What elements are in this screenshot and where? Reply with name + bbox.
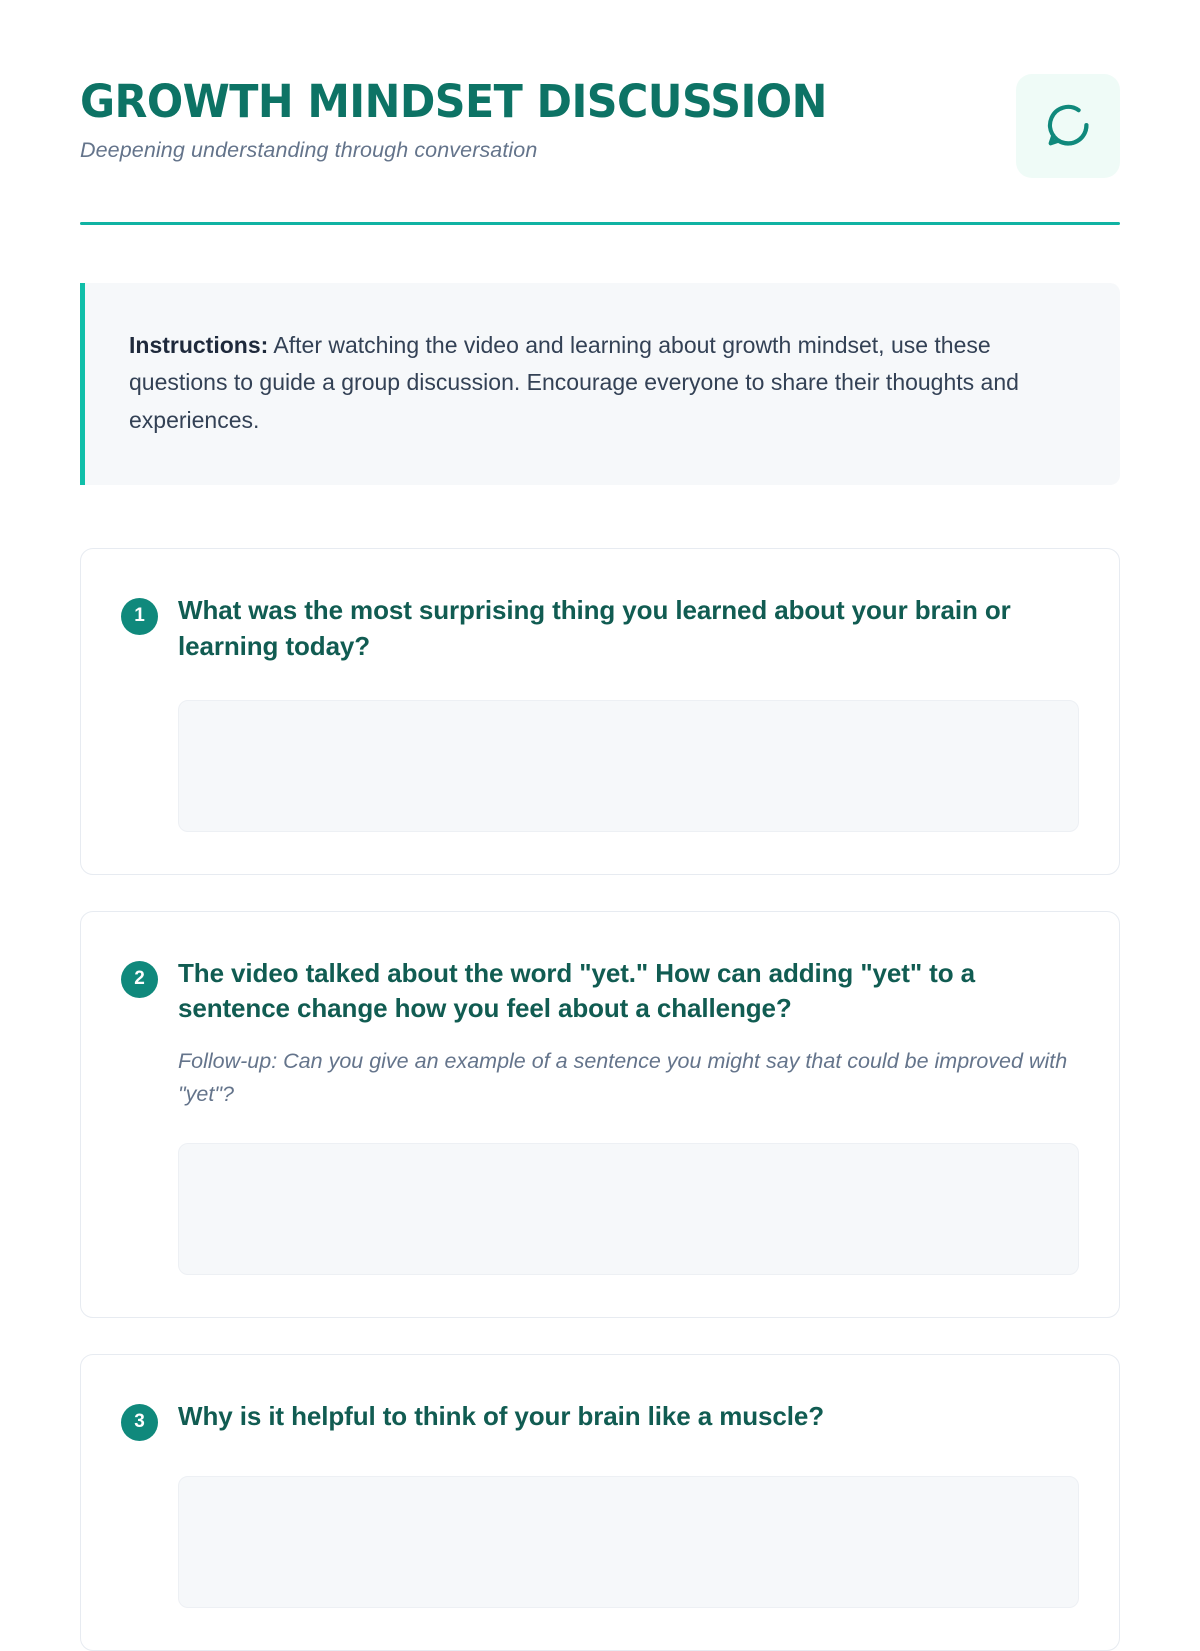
question-header-1: 1 What was the most surprising thing you… (121, 593, 1079, 665)
answer-field-2[interactable] (178, 1143, 1079, 1275)
question-header-3: 3 Why is it helpful to think of your bra… (121, 1399, 1079, 1441)
header-divider (80, 222, 1120, 225)
question-text-1: What was the most surprising thing you l… (178, 593, 1079, 665)
instructions-label: Instructions: (129, 332, 268, 358)
answer-field-3[interactable] (178, 1476, 1079, 1608)
question-card-3: 3 Why is it helpful to think of your bra… (80, 1354, 1120, 1651)
question-text-2: The video talked about the word "yet." H… (178, 956, 1079, 1028)
chat-bubble-icon (1042, 100, 1094, 152)
question-header-2: 2 The video talked about the word "yet."… (121, 956, 1079, 1028)
question-number-badge-3: 3 (121, 1404, 158, 1441)
question-number-badge-2: 2 (121, 961, 158, 998)
worksheet-page: GROWTH MINDSET DISCUSSION Deepening unde… (0, 0, 1200, 1651)
question-number-badge-1: 1 (121, 598, 158, 635)
page-title: GROWTH MINDSET DISCUSSION (80, 78, 827, 125)
question-followup-2: Follow-up: Can you give an example of a … (178, 1045, 1079, 1110)
page-header: GROWTH MINDSET DISCUSSION Deepening unde… (80, 72, 1120, 178)
questions-list: 1 What was the most surprising thing you… (80, 548, 1120, 1651)
answer-field-1[interactable] (178, 700, 1079, 832)
instructions-text: Instructions: After watching the video a… (129, 327, 1074, 439)
chat-bubble-icon-badge (1016, 74, 1120, 178)
header-text-block: GROWTH MINDSET DISCUSSION Deepening unde… (80, 72, 866, 163)
question-card-1: 1 What was the most surprising thing you… (80, 548, 1120, 875)
instructions-callout: Instructions: After watching the video a… (80, 283, 1120, 485)
page-subtitle: Deepening understanding through conversa… (80, 138, 866, 163)
question-card-2: 2 The video talked about the word "yet."… (80, 911, 1120, 1318)
question-text-3: Why is it helpful to think of your brain… (178, 1399, 824, 1435)
